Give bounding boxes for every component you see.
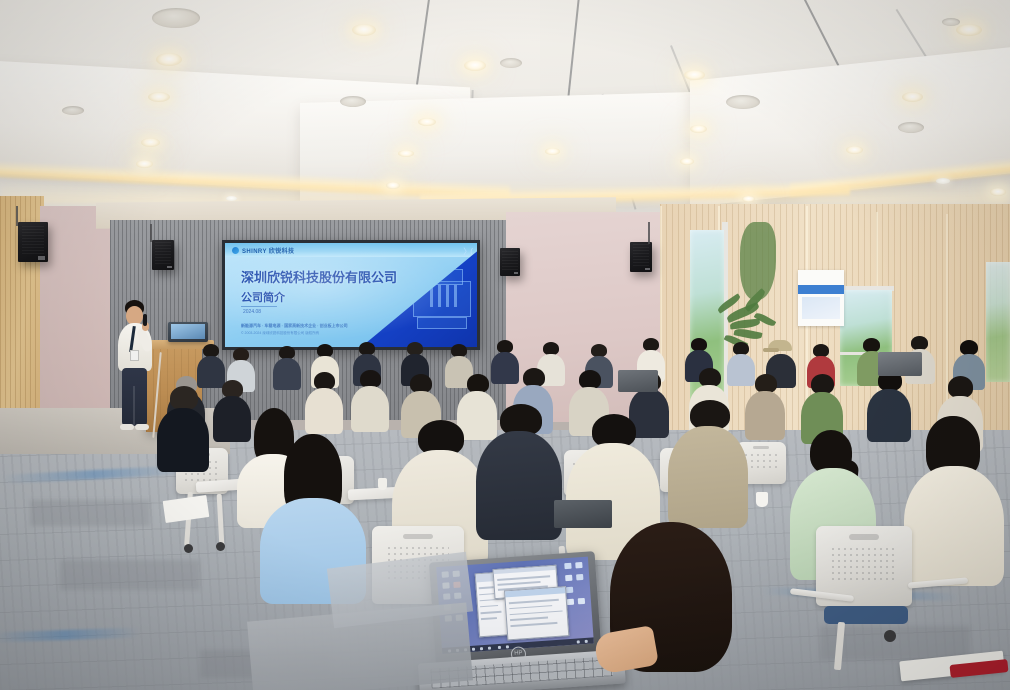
- slide-meta-line-1: 新能源汽车 · 车载电源 · 国家高新技术企业 · 创业板上市公司: [241, 323, 348, 329]
- attendee-laptop: [554, 500, 612, 528]
- wall-speaker-icon: [152, 240, 174, 270]
- attendee-torso: [273, 358, 301, 390]
- wall-speaker-icon: [500, 248, 520, 276]
- speaker-badge: [514, 272, 518, 274]
- attendee-torso: [904, 466, 1004, 586]
- window-content-row: [510, 617, 548, 621]
- window-content-row: [480, 605, 498, 608]
- downlight: [418, 118, 436, 126]
- window-content-row: [510, 610, 563, 615]
- window-titlebar: [506, 587, 566, 598]
- window-content-row: [480, 611, 502, 614]
- window-content-row: [509, 605, 552, 610]
- attendee: [304, 372, 344, 434]
- slide-date: 2024.08: [243, 309, 261, 315]
- attendee-torso: [668, 426, 748, 528]
- downlight: [148, 92, 170, 102]
- window-content-row: [509, 599, 559, 604]
- downlight: [226, 196, 237, 201]
- wall-speaker-icon: [18, 222, 48, 262]
- window-content-row: [497, 581, 540, 586]
- slide-graphic-detail: [446, 285, 449, 307]
- downlight: [680, 158, 694, 165]
- slide-divider: [241, 306, 277, 307]
- downlight: [936, 178, 950, 184]
- window-content-row: [481, 617, 497, 620]
- downlight: [684, 70, 705, 80]
- attendee-torso: [351, 386, 389, 432]
- attendee: [272, 346, 302, 390]
- downlight: [902, 92, 923, 102]
- attendee-hair: [811, 374, 834, 394]
- cap-brim: [763, 348, 779, 352]
- desktop-icon[interactable]: [576, 574, 583, 580]
- attendee: [904, 416, 1004, 586]
- chair-caster: [184, 544, 193, 553]
- window-titlebar: [494, 565, 556, 573]
- slide-graphic-detail: [454, 285, 457, 307]
- taskbar-item[interactable]: [498, 646, 501, 649]
- downlight: [956, 24, 982, 36]
- slide-logo-icon: [232, 247, 239, 254]
- downlight: [398, 150, 414, 157]
- slide-corner-mark: 〉(: [463, 246, 472, 257]
- taskbar-item[interactable]: [488, 646, 491, 649]
- microphone-icon: [143, 314, 147, 326]
- ceiling: [0, 0, 1010, 232]
- chair-handle: [849, 534, 880, 540]
- wall-sign-body: [802, 297, 841, 319]
- speaker-badge: [38, 256, 45, 259]
- chair-handle: [753, 446, 769, 449]
- slide-graphic-detail: [430, 287, 433, 307]
- ceiling-speaker-icon: [942, 18, 960, 26]
- app-window-active[interactable]: [504, 586, 569, 640]
- wall-notice-sign: [798, 270, 844, 326]
- system-tray-item[interactable]: [576, 640, 579, 643]
- chair-handle: [403, 534, 432, 539]
- attendee-hair: [170, 386, 198, 410]
- chair-caster: [216, 542, 225, 551]
- slide-logo-text: SHINRY 欣锐科技: [242, 246, 338, 255]
- slide-title: 深圳欣锐科技股份有限公司: [241, 267, 397, 286]
- desktop-icon[interactable]: [565, 562, 572, 568]
- conference-room-photo: SHINRY 欣锐科技 〉( 深圳欣锐科技股份有限公司 公司简介 2024.08…: [0, 0, 1010, 690]
- attendee-torso: [305, 388, 343, 434]
- downlight: [545, 148, 560, 155]
- downlight: [690, 125, 707, 133]
- ceiling-speaker-icon: [898, 122, 924, 133]
- desktop-icon[interactable]: [566, 586, 573, 592]
- desktop-icon[interactable]: [578, 598, 585, 604]
- attendee: [668, 400, 748, 528]
- attendee-laptop: [878, 352, 922, 376]
- paper-sheet: [163, 495, 210, 523]
- system-tray-item[interactable]: [584, 640, 587, 643]
- slide-graphic-detail: [438, 285, 441, 307]
- speaker-cable: [150, 224, 152, 242]
- attendee-laptop: [618, 370, 658, 392]
- ceiling-speaker-icon: [340, 96, 366, 107]
- ceiling-speaker-icon: [500, 58, 522, 68]
- attendee-torso: [157, 408, 209, 472]
- attendee-torso: [476, 431, 562, 540]
- attendee: [156, 386, 210, 472]
- downlight: [846, 146, 863, 154]
- slide-graphic-detail: [417, 317, 467, 329]
- chair-caster: [884, 630, 896, 642]
- chair-leg: [217, 494, 225, 546]
- chair-seat-cushion: [824, 606, 908, 624]
- wall-speaker-icon: [630, 242, 652, 272]
- downlight: [742, 196, 755, 202]
- water-cup: [756, 492, 768, 507]
- attendee-torso: [745, 391, 785, 440]
- window-content-row: [497, 575, 550, 580]
- water-cup: [378, 478, 387, 490]
- slide-graphic-detail: [413, 281, 471, 317]
- chair-leg: [834, 622, 845, 670]
- taskbar-item[interactable]: [472, 647, 475, 650]
- window-content-row: [479, 598, 503, 601]
- downlight: [990, 188, 1006, 196]
- taskbar-item[interactable]: [480, 647, 483, 650]
- downlight: [141, 138, 160, 147]
- taskbar-item[interactable]: [506, 645, 509, 648]
- downlight: [386, 182, 400, 189]
- wall-sign-band: [798, 285, 844, 294]
- slide-graphic-detail: [421, 269, 463, 285]
- attendee: [744, 374, 786, 440]
- downlight: [156, 53, 182, 66]
- attendee: [350, 370, 390, 432]
- speaker-cable: [648, 222, 650, 244]
- attendee-hair: [911, 336, 928, 350]
- ceiling-speaker-icon: [152, 8, 200, 28]
- plant-foliage-right: [740, 222, 776, 300]
- downlight: [136, 160, 153, 168]
- speaker-badge: [645, 268, 650, 270]
- ceiling-speaker-icon: [726, 95, 760, 109]
- desktop-icon[interactable]: [566, 574, 573, 580]
- slide-subtitle: 公司简介: [241, 289, 285, 305]
- attendee: [476, 404, 562, 540]
- downlight: [464, 60, 486, 71]
- downlight: [352, 24, 376, 36]
- ceiling-speaker-icon: [62, 106, 84, 115]
- attendee-hair: [960, 340, 978, 355]
- window-content-row: [510, 622, 557, 627]
- attendee-hair: [948, 376, 973, 398]
- speaker-cable: [16, 206, 18, 226]
- attendee-hair: [863, 338, 880, 352]
- desktop-icon[interactable]: [576, 562, 583, 568]
- speaker-badge: [167, 266, 172, 268]
- desktop-icon[interactable]: [567, 598, 574, 604]
